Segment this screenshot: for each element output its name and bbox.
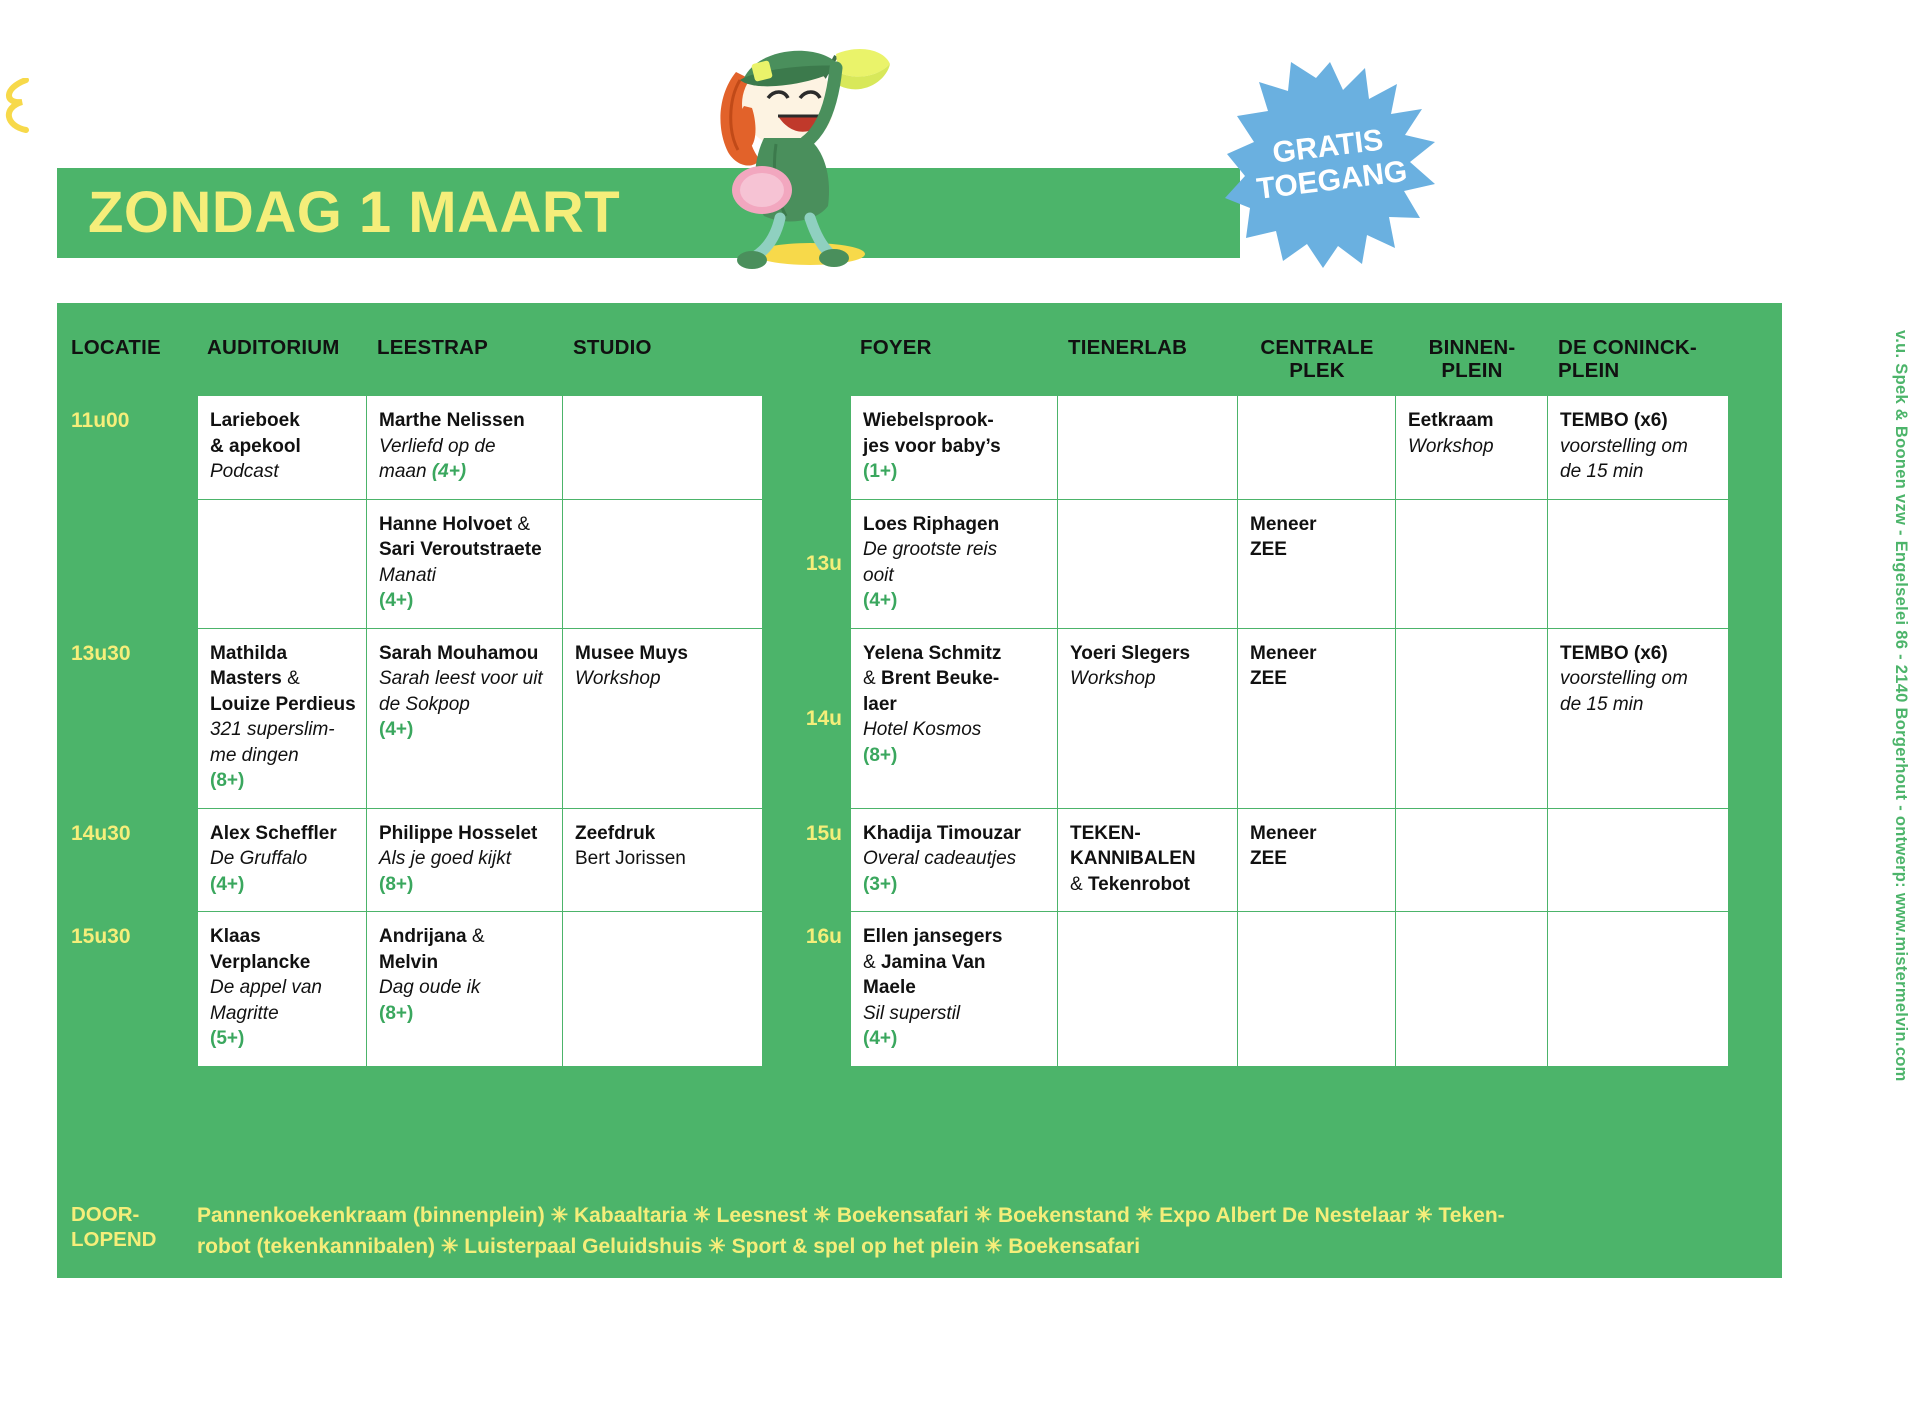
event-age: (4+) xyxy=(210,872,356,898)
time-label-left: 15u30 xyxy=(57,912,197,1067)
column-header-leestrap: LEESTRAP xyxy=(367,303,563,396)
event-age: (4+) xyxy=(432,461,466,482)
table-cell-auditorium xyxy=(197,500,367,629)
table-cell-de-coninckplein: TEMBO (x6) voorstelling omde 15 min xyxy=(1548,629,1728,809)
event-age: (8+) xyxy=(379,1001,552,1027)
event-age: (4+) xyxy=(863,1026,1047,1052)
event-age: (3+) xyxy=(863,872,1047,898)
event-age: (1+) xyxy=(863,459,1047,485)
column-header-de-coninckplein: DE CONINCK- PLEIN xyxy=(1548,303,1728,396)
table-cell-foyer: Khadija Timouzar Overal cadeautjes (3+) xyxy=(850,809,1058,913)
event-name: MeneerZEE xyxy=(1250,641,1385,692)
event-name: Zeefdruk xyxy=(575,821,752,847)
event-name: MeneerZEE xyxy=(1250,512,1385,563)
event-name: Andrijana &Melvin xyxy=(379,924,552,975)
table-cell-tienerlab: TEKEN-KANNIBALEN& Tekenrobot xyxy=(1058,809,1238,913)
table-cell-binnenplein xyxy=(1396,912,1548,1067)
event-title: De grootste reisooit xyxy=(863,537,1047,588)
event-title: 321 superslim-me dingen xyxy=(210,717,356,768)
table-cell-centrale-plek: MeneerZEE xyxy=(1238,500,1396,629)
table-cell-binnenplein xyxy=(1396,500,1548,629)
table-cell-auditorium: Alex Scheffler De Gruffalo (4+) xyxy=(197,809,367,913)
header-line-1: BINNEN- xyxy=(1429,336,1516,359)
table-cell-auditorium: KlaasVerplancke De appel vanMagritte (5+… xyxy=(197,912,367,1067)
event-title: Dag oude ik xyxy=(379,975,552,1001)
table-cell-foyer: Wiebelsprook-jes voor baby’s (1+) xyxy=(850,396,1058,500)
event-title: De appel vanMagritte xyxy=(210,975,356,1026)
header-line-2: PLEK xyxy=(1289,359,1344,382)
event-age: (4+) xyxy=(863,588,1047,614)
table-cell-binnenplein: Eetkraam Workshop xyxy=(1396,396,1548,500)
event-title: Workshop xyxy=(1408,434,1537,460)
table-cell-studio: Musee Muys Workshop xyxy=(563,629,763,809)
table-cell-de-coninckplein xyxy=(1548,912,1728,1067)
mascot-illustration xyxy=(640,20,930,270)
table-cell-tienerlab xyxy=(1058,500,1238,629)
event-title: Verliefd op demaan (4+) xyxy=(379,434,552,485)
header-line-1: DE CONINCK- xyxy=(1558,336,1697,359)
event-name: Khadija Timouzar xyxy=(863,821,1047,847)
table-cell-auditorium: MathildaMasters &Louize Perdieus 321 sup… xyxy=(197,629,367,809)
table-cell-foyer: Ellen jansegers& Jamina VanMaele Sil sup… xyxy=(850,912,1058,1067)
event-name: TEMBO (x6) xyxy=(1560,408,1718,434)
event-name: TEMBO (x6) xyxy=(1560,641,1718,667)
column-header-locatie: LOCATIE xyxy=(57,303,197,396)
table-cell-foyer: Loes Riphagen De grootste reisooit (4+) xyxy=(850,500,1058,629)
event-name: Alex Scheffler xyxy=(210,821,356,847)
table-cell-de-coninckplein xyxy=(1548,500,1728,629)
event-name: MathildaMasters &Louize Perdieus xyxy=(210,641,356,718)
event-name: Loes Riphagen xyxy=(863,512,1047,538)
event-name: Wiebelsprook-jes voor baby’s xyxy=(863,408,1047,459)
table-cell-binnenplein xyxy=(1396,629,1548,809)
event-name: MeneerZEE xyxy=(1250,821,1385,872)
event-title: Manati xyxy=(379,563,552,589)
table-cell-centrale-plek xyxy=(1238,396,1396,500)
column-gap xyxy=(763,912,798,1067)
table-cell-centrale-plek: MeneerZEE xyxy=(1238,809,1396,913)
table-cell-studio xyxy=(563,912,763,1067)
event-age: (5+) xyxy=(210,1026,356,1052)
table-cell-leestrap: Philippe Hosselet Als je goed kijkt (8+) xyxy=(367,809,563,913)
table-cell-tienerlab xyxy=(1058,912,1238,1067)
event-name: Yoeri Slegers xyxy=(1070,641,1227,667)
event-name: Ellen jansegers& Jamina VanMaele xyxy=(863,924,1047,1001)
time-label-left xyxy=(57,500,197,629)
event-name: Hanne Holvoet &Sari Veroutstraete xyxy=(379,512,552,563)
event-name: TEKEN-KANNIBALEN& Tekenrobot xyxy=(1070,821,1227,898)
schedule-table: LOCATIE AUDITORIUM LEESTRAP STUDIO FOYER… xyxy=(57,303,1782,1067)
event-title: De Gruffalo xyxy=(210,846,356,872)
event-name: Sarah Mouhamou xyxy=(379,641,552,667)
header-line-2: PLEIN xyxy=(1558,359,1619,382)
table-cell-leestrap: Andrijana &Melvin Dag oude ik (8+) xyxy=(367,912,563,1067)
header-line-1: CENTRALE xyxy=(1260,336,1373,359)
doorlopend-label: DOOR- LOPEND xyxy=(57,1196,197,1252)
table-cell-centrale-plek xyxy=(1238,912,1396,1067)
column-gap xyxy=(763,396,798,500)
event-title: Podcast xyxy=(210,459,356,485)
event-title: Hotel Kosmos xyxy=(863,717,1047,743)
doorlopend-activities: Pannenkoekenkraam (binnenplein) ✳ Kabaal… xyxy=(197,1196,1782,1262)
doorlopend-label-line-1: DOOR- xyxy=(71,1202,197,1227)
event-name: Larieboek& apekool xyxy=(210,408,356,459)
event-name: KlaasVerplancke xyxy=(210,924,356,975)
table-cell-leestrap: Marthe Nelissen Verliefd op demaan (4+) xyxy=(367,396,563,500)
time-label-right: 13u xyxy=(798,500,850,629)
doorlopend-line-2: robot (tekenkannibalen) ✳ Luisterpaal Ge… xyxy=(197,1231,1762,1262)
event-title: Bert Jorissen xyxy=(575,846,752,872)
event-age: (8+) xyxy=(210,768,356,794)
table-cell-studio: Zeefdruk Bert Jorissen xyxy=(563,809,763,913)
doorlopend-label-line-2: LOPEND xyxy=(71,1227,197,1252)
event-name: Philippe Hosselet xyxy=(379,821,552,847)
time-label-right: 16u xyxy=(798,912,850,1067)
column-gap xyxy=(763,500,798,629)
page-title: ZONDAG 1 MAART xyxy=(88,182,620,244)
table-cell-leestrap: Hanne Holvoet &Sari Veroutstraete Manati… xyxy=(367,500,563,629)
event-title: voorstelling omde 15 min xyxy=(1560,434,1718,485)
column-header-studio: STUDIO xyxy=(563,303,763,396)
column-header-centrale-plek: CENTRALE PLEK xyxy=(1238,303,1396,396)
event-title: voorstelling omde 15 min xyxy=(1560,666,1718,717)
time-label-left: 11u00 xyxy=(57,396,197,500)
column-gap xyxy=(763,809,798,913)
table-cell-tienerlab xyxy=(1058,396,1238,500)
event-age: (8+) xyxy=(863,743,1047,769)
time-label-right: 14u xyxy=(798,629,850,809)
table-cell-de-coninckplein: TEMBO (x6) voorstelling omde 15 min xyxy=(1548,396,1728,500)
corner-squiggle-decoration xyxy=(0,78,36,138)
event-name: Musee Muys xyxy=(575,641,752,667)
column-gap xyxy=(763,629,798,809)
table-cell-leestrap: Sarah Mouhamou Sarah leest voor uitde So… xyxy=(367,629,563,809)
event-name: Eetkraam xyxy=(1408,408,1537,434)
time-label-left: 13u30 xyxy=(57,629,197,809)
doorlopend-band: DOOR- LOPEND Pannenkoekenkraam (binnenpl… xyxy=(57,1196,1782,1278)
event-title: Overal cadeautjes xyxy=(863,846,1047,872)
event-name: Yelena Schmitz& Brent Beuke-laer xyxy=(863,641,1047,718)
header-line-2: PLEIN xyxy=(1441,359,1502,382)
event-title: Workshop xyxy=(1070,666,1227,692)
time-label-right xyxy=(798,396,850,500)
event-title: Als je goed kijkt xyxy=(379,846,552,872)
column-header-binnenplein: BINNEN- PLEIN xyxy=(1396,303,1548,396)
table-cell-auditorium: Larieboek& apekool Podcast xyxy=(197,396,367,500)
publisher-credit: v.u. Spek & Boonen vzw - Engelselei 86 -… xyxy=(1876,330,1910,1290)
event-age: (4+) xyxy=(379,588,552,614)
table-cell-de-coninckplein xyxy=(1548,809,1728,913)
event-title: Workshop xyxy=(575,666,752,692)
column-header-auditorium: AUDITORIUM xyxy=(197,303,367,396)
table-cell-studio xyxy=(563,396,763,500)
column-header-gap xyxy=(763,303,798,396)
table-cell-foyer: Yelena Schmitz& Brent Beuke-laer Hotel K… xyxy=(850,629,1058,809)
column-header-foyer: FOYER xyxy=(850,303,1058,396)
column-header-time-right xyxy=(798,303,850,396)
event-age: (4+) xyxy=(379,717,552,743)
table-cell-centrale-plek: MeneerZEE xyxy=(1238,629,1396,809)
event-name: Marthe Nelissen xyxy=(379,408,552,434)
column-header-tienerlab: TIENERLAB xyxy=(1058,303,1238,396)
table-cell-tienerlab: Yoeri Slegers Workshop xyxy=(1058,629,1238,809)
table-cell-studio xyxy=(563,500,763,629)
event-age: (8+) xyxy=(379,872,552,898)
event-title: Sarah leest voor uitde Sokpop xyxy=(379,666,552,717)
time-label-right: 15u xyxy=(798,809,850,913)
event-title: Sil superstil xyxy=(863,1001,1047,1027)
table-cell-binnenplein xyxy=(1396,809,1548,913)
doorlopend-line-1: Pannenkoekenkraam (binnenplein) ✳ Kabaal… xyxy=(197,1200,1762,1231)
time-label-left: 14u30 xyxy=(57,809,197,913)
